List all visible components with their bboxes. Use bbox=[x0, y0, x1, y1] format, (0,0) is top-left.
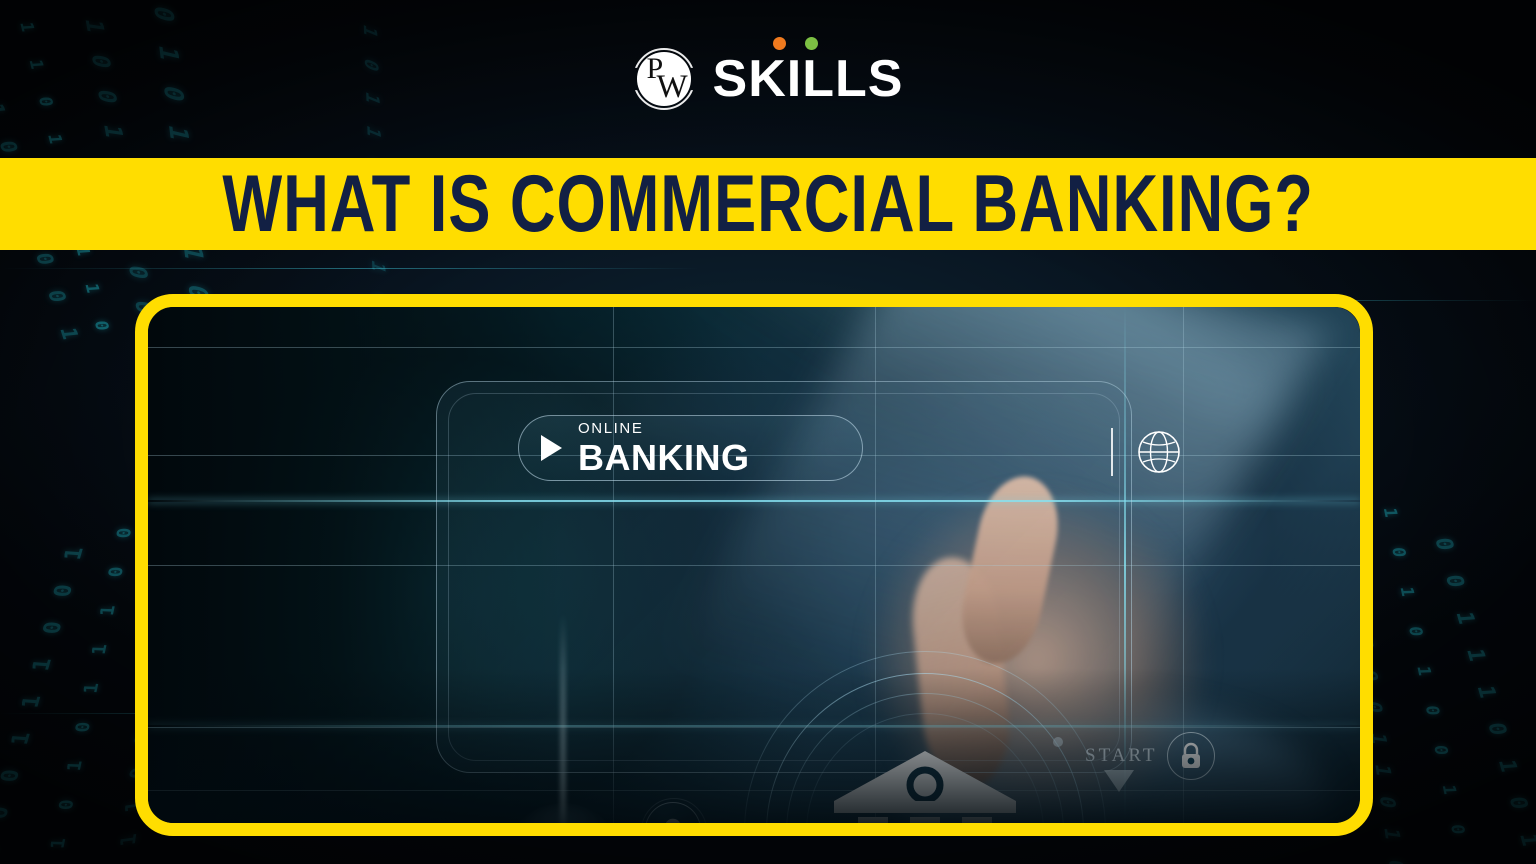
brand-name: SKILLS bbox=[713, 53, 904, 105]
pw-letter-w: W bbox=[657, 71, 688, 104]
logo-dot-green bbox=[805, 37, 818, 50]
logo-dot-orange bbox=[773, 37, 786, 50]
globe-icon bbox=[1137, 430, 1181, 474]
pill-divider bbox=[1111, 428, 1113, 476]
page-title: WHAT IS COMMERCIAL BANKING? bbox=[222, 164, 1313, 245]
pill-title: BANKING bbox=[578, 440, 750, 476]
photo-bottom-shade bbox=[148, 668, 1360, 823]
banner-stage: 1 0 0 1 0 1 1 0 0 1 0 1 1 0 1 0 0 1 1 0 … bbox=[0, 0, 1536, 864]
play-icon bbox=[541, 435, 562, 461]
brand-logo[interactable]: P W SKILLS bbox=[633, 48, 904, 110]
hero-image-card: ONLINE BANKING START bbox=[135, 294, 1373, 836]
pill-eyebrow: ONLINE bbox=[578, 421, 750, 436]
hud-hline-1 bbox=[148, 347, 1360, 348]
header: P W SKILLS bbox=[0, 0, 1536, 158]
pw-logo-icon: P W bbox=[633, 48, 695, 110]
hero-photo: ONLINE BANKING START bbox=[148, 307, 1360, 823]
title-band: WHAT IS COMMERCIAL BANKING? bbox=[0, 158, 1536, 250]
online-banking-pill[interactable]: ONLINE BANKING bbox=[518, 415, 863, 481]
